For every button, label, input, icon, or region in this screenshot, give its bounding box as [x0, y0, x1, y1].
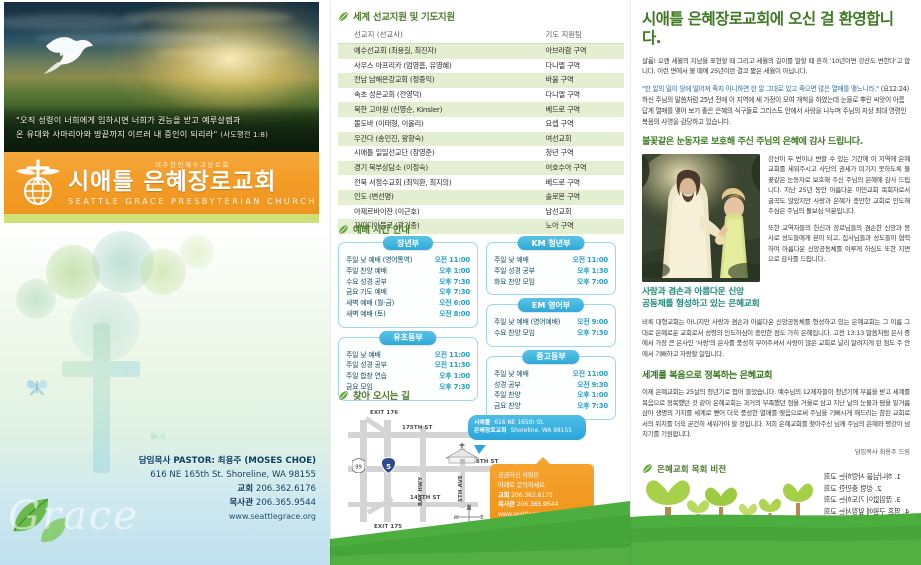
middle-panel: 세계 선교지원 및 기도지원 선교지 (선교사) 기도 지원팀 예수선교회 (최… [330, 0, 630, 565]
mission-support-section: 세계 선교지원 및 기도지원 선교지 (선교사) 기도 지원팀 예수선교회 (최… [338, 9, 624, 234]
body-paragraph-2: 비록 대형교회는 아니지만 사랑과 겸손과 아름다운 신앙공동체를 형성하고 있… [642, 317, 910, 359]
worship-service-label: 주일 성경 공부 [494, 266, 535, 277]
mission-field-cell: 사우스 아프리카 (엄영흠, 유영혜) [338, 59, 536, 74]
highway-shield-99-icon: 99 [352, 458, 365, 473]
worship-service-time: 오전 11:00 [568, 255, 608, 266]
mission-field-cell: 경기 북부상담소 (이정숙) [338, 161, 536, 176]
pastor-name: 최용주 (MOSES CHOE) [218, 456, 316, 466]
worship-service-time: 오후 1:00 [434, 371, 470, 382]
mission-table-row: 속초 성은교회 (전영덕)다니엘 구역 [338, 88, 624, 103]
worship-box-title: 장년부 [383, 236, 433, 250]
worship-service-label: 수요 성경 공부 [346, 277, 387, 288]
fold-line-right [630, 0, 631, 565]
worship-heading: 예배 시간 안내 [353, 222, 410, 236]
church-address-callout: 시애틀 616 NE 165th St. 은혜장로교회 Shoreline, W… [468, 415, 586, 440]
mission-table-row: 사우스 아프리카 (엄영흠, 유영혜)다니엘 구역 [338, 59, 624, 74]
worship-service-label: 금요 기도 예배 [346, 287, 387, 298]
teal-heading-line-2: 공동체를 형성하고 있는 은혜교회 [642, 298, 910, 311]
left-lower-decorative-area: Grace 담임목사 PASTOR: 최용주 (MOSES CHOE) 616 … [0, 223, 330, 565]
body-paragraph-3: 이제 은혜교회는 25살의 청년기로 접어 들었습니다. 예수님의 12제자들이… [642, 387, 910, 440]
worship-service-label: 주일 찬양 예배 [346, 266, 387, 277]
callout-line-2: 은혜장로교회 Shoreline, WA 98155 [474, 427, 580, 435]
mission-team-cell: 여선교회 [536, 132, 625, 147]
road-horizontal-148 [348, 466, 496, 472]
address-row: 616 NE 165th St. Shoreline, WA 98155 [76, 469, 316, 483]
scripture-quote-block: "한 알의 밀이 땅에 떨어져 죽지 아니하면 한 알 그대로 있고 죽으면 많… [642, 84, 910, 128]
leaf-bullet-icon [338, 390, 349, 401]
vision-illustration-zone: 1. 하나님을 사랑하는 교회 2. 성령 충만한 교회 3. 끊임없이 기도하… [630, 457, 921, 565]
worship-row: 주일 낮 예배 (영어통역)오전 11:00 [346, 255, 470, 266]
info-line-1: 궁금하신 사항은 [498, 471, 586, 481]
worship-service-label: 주일 낮 예배 (영어통역) [346, 255, 412, 266]
parsonage-phone-value: 206.365.9544 [256, 498, 316, 508]
worship-box: 장년부주일 낮 예배 (영어통역)오전 11:00주일 찬양 예배오후 1:00… [338, 242, 478, 328]
mission-table-row: 전남 남해은강교회 (정중익)바울 구역 [338, 73, 624, 88]
callout-tail [474, 445, 486, 454]
worship-row: 주일 합창 연습오후 1:00 [346, 371, 470, 382]
worship-service-time: 오후 7:30 [434, 277, 470, 288]
worship-service-label: 수요 찬양 모임 [494, 328, 535, 339]
pastor-label: 담임목사 PASTOR: [139, 456, 215, 466]
worship-box-title: 유초등부 [379, 331, 436, 345]
mission-field-cell: 인도 (변선명) [338, 190, 536, 205]
mission-table-row: 몰도바 (이태형, 이올리)요셉 구역 [338, 117, 624, 132]
worship-row: 주일 낮 예배오전 11:00 [494, 369, 608, 380]
worship-row: 주일 성경 공부오전 11:30 [346, 360, 470, 371]
info-line-2: 아래로 문의하세요. [498, 481, 586, 491]
worship-section-header: 예배 시간 안내 [338, 222, 624, 236]
worship-service-label: 화요 찬양 모임 [494, 277, 535, 288]
thanks-line: 불꽃같은 눈동자로 보호해 주신 주님의 은혜에 감사 드립니다. [642, 134, 910, 147]
worship-box-title: KM 청년부 [517, 236, 584, 250]
brochure-page: "오직 성령이 너희에게 임하시면 너희가 권능을 받고 예루살렘과 온 유대와… [0, 0, 921, 565]
worship-service-time: 오후 7:00 [572, 277, 608, 288]
worship-row: 수요 찬양 모임오후 7:30 [494, 328, 608, 339]
church-phone-value: 206.362.6176 [256, 484, 316, 494]
scripture-quote-text: "한 알의 밀이 땅에 떨어져 죽지 아니하면 한 알 그대로 있고 죽으면 많… [642, 85, 879, 93]
worship-box-title: EM 영어부 [518, 298, 584, 312]
parsonage-phone-label: 목사관 [229, 498, 253, 508]
left-panel: "오직 성령이 너희에게 임하시면 너희가 권능을 받고 예루살렘과 온 유대와… [0, 0, 330, 565]
mission-table-row: 시애틀 일일선교단 (장영준)청년 구역 [338, 146, 624, 161]
jesus-with-child-image [642, 154, 760, 282]
verse-line-1: "오직 성령이 너희에게 임하시면 너희가 권능을 받고 예루살렘과 [16, 113, 309, 127]
right-panel: 시애틀 은혜장로교회에 오신 걸 환영합니다. 샬롬! 오랜 세월의 지남을 표… [630, 0, 921, 565]
intro-paragraph: 샬롬! 오랜 세월의 지남을 표현할 때 그리고 세월의 길이를 말할 때 흔히… [642, 56, 910, 77]
mission-field-cell: 우간다 (송민진, 왕향숙) [338, 132, 536, 147]
jesus-image-row: 강산이 두 번이나 변할 수 있는 기간에 이 지역에 은혜 교회를 세워주시고… [642, 154, 910, 282]
teal-heading-line-1: 사랑과 겸손과 아름다운 신앙 [642, 286, 910, 299]
church-globe-cross-emblem-icon [12, 157, 64, 209]
worship-box: EM 영어부주일 낮 예배 (영어예배)오전 9:00수요 찬양 모임오후 7:… [486, 304, 616, 347]
mission-table-row: 예수선교회 (최용길, 최진자)아브라함 구역 [338, 44, 624, 59]
callout-line-1: 시애틀 616 NE 165th St. [474, 419, 580, 427]
welcome-heading: 시애틀 은혜장로교회에 오신 걸 환영합니다. [642, 10, 910, 49]
worship-service-label: 새벽 예배 (토) [346, 309, 386, 320]
worship-service-label: 새벽 예배 (월-금) [346, 298, 394, 309]
map-label-175th: 175TH ST [402, 425, 432, 431]
mission-team-cell: 솔로몬 구역 [536, 190, 625, 205]
mission-team-cell: 베드로 구역 [536, 102, 625, 117]
right-panel-content: 시애틀 은혜장로교회에 오신 걸 환영합니다. 샬롬! 오랜 세월의 지남을 표… [642, 10, 910, 475]
fold-line-left [330, 0, 331, 565]
teal-heading: 사랑과 겸손과 아름다운 신앙 공동체를 형성하고 있는 은혜교회 [642, 286, 910, 312]
worship-service-label: 주일 성경 공부 [346, 360, 387, 371]
mission-field-cell: 몰도바 (이태형, 이올리) [338, 117, 536, 132]
map-label-exit-176: EXIT 176 [370, 410, 398, 416]
grass-illustration-middle [330, 495, 630, 565]
worship-service-time: 오전 11:00 [568, 369, 608, 380]
mission-table-row: 우간다 (송민진, 왕향숙)여선교회 [338, 132, 624, 147]
parsonage-phone-row: 목사관 206.365.9544 [76, 497, 316, 511]
worship-row: 주일 찬양 예배오후 1:00 [346, 266, 470, 277]
callout-address-1: 616 NE 165th St. [494, 419, 544, 427]
directions-section-header: 찾아 오시는 길 [338, 388, 624, 402]
worship-row: 수요 성경 공부오후 7:30 [346, 277, 470, 288]
leaf-small-icon [36, 515, 70, 545]
worship-row: 주일 낮 예배오전 11:00 [494, 255, 608, 266]
svg-text:99: 99 [355, 465, 362, 471]
vision-item: 1. 하나님을 사랑하는 교회 [824, 471, 909, 483]
mission-team-cell: 바울 구역 [536, 73, 625, 88]
leaf-bullet-icon [338, 224, 349, 235]
directions-heading: 찾아 오시는 길 [353, 388, 410, 402]
mission-field-cell: 속초 성은교회 (전영덕) [338, 88, 536, 103]
mission-table-row: 인도 (변선명)솔로몬 구역 [338, 190, 624, 205]
mission-team-cell: 다니엘 구역 [536, 88, 625, 103]
worship-service-time: 오전 11:00 [430, 350, 470, 361]
worship-row: 주일 성경 공부오후 1:30 [494, 266, 608, 277]
mission-field-cell: 시애틀 일일선교단 (장영준) [338, 146, 536, 161]
mission-table-row: 북한 고아원 (신영순, Kinsler)베드로 구역 [338, 102, 624, 117]
worship-row: 새벽 예배 (월-금)오전 6:00 [346, 298, 470, 309]
mission-field-cell: 아제르바이잔 (이근호) [338, 205, 536, 220]
grass-illustration-right [630, 503, 921, 565]
worship-box-title: 중고등부 [522, 350, 579, 364]
worship-row: 금요 기도 예배오후 7:30 [346, 287, 470, 298]
worship-box: KM 청년부주일 낮 예배오전 11:00주일 성경 공부오후 1:30화요 찬… [486, 242, 616, 295]
banner-underline [4, 214, 319, 223]
church-phone-row: 교회 206.362.6176 [76, 483, 316, 497]
left-contact-block: 담임목사 PASTOR: 최용주 (MOSES CHOE) 616 NE 165… [76, 455, 316, 524]
worship-service-label: 주일 합창 연습 [346, 371, 387, 382]
mission-table: 선교지 (선교사) 기도 지원팀 예수선교회 (최용길, 최진자)아브라함 구역… [338, 27, 624, 234]
mission-team-cell: 어호수아 구역 [536, 161, 625, 176]
mission-heading: 세계 선교지원 및 기도지원 [353, 9, 455, 23]
paragraph-beside-image-1: 강산이 두 번이나 변할 수 있는 기간에 이 지역에 은혜 교회를 세워주시고… [768, 154, 910, 217]
worship-service-time: 오전 11:00 [430, 255, 470, 266]
worship-service-label: 주일 낮 예배 [494, 255, 529, 266]
mission-table-row: 전북 서정수교회 (최익환, 최지의)베드로 구역 [338, 175, 624, 190]
verse-line-2: 온 유대와 사마리아와 땅끝까지 이르러 내 증인이 되리라" (사도행전 1:… [16, 127, 309, 142]
worship-service-time: 오후 1:30 [572, 266, 608, 277]
mission-team-cell: 요셉 구역 [536, 117, 625, 132]
mission-field-cell: 전북 서정수교회 (최익환, 최지의) [338, 175, 536, 190]
church-name-english: SEATTLE GRACE PRESBYTERIAN CHURCH [68, 197, 317, 206]
website-row[interactable]: www.seattlegrace.org [76, 511, 316, 524]
paragraph-beside-image-2: 또한 교역자들의 헌신과 장로님들의 겸손한 신앙과 봉사로 성도들에게 본이 … [768, 223, 910, 265]
mission-team-cell: 베드로 구역 [536, 175, 625, 190]
worship-service-time: 오전 11:30 [430, 360, 470, 371]
jesus-side-text: 강산이 두 번이나 변할 수 있는 기간에 이 지역에 은혜 교회를 세워주시고… [768, 154, 910, 282]
mission-team-cell: 다니엘 구역 [536, 59, 625, 74]
green-heading: 세계를 복음으로 정복하는 은혜교회 [642, 367, 910, 381]
church-name-korean: 시애틀 은혜장로교회 [68, 170, 317, 194]
mission-table-header-row: 선교지 (선교사) 기도 지원팀 [338, 27, 624, 44]
mission-field-cell: 예수선교회 (최용길, 최진자) [338, 44, 536, 59]
worship-row: 새벽 예배 (토)오전 8:00 [346, 309, 470, 320]
svg-text:5: 5 [386, 463, 391, 471]
butterfly-small-icon [148, 429, 168, 446]
highway-shield-i5-icon: 5 [381, 457, 396, 474]
mission-table-row: 경기 북부상담소 (이정숙)어호수아 구역 [338, 161, 624, 176]
church-logo-banner: 미주한인예수교장로회 시애틀 은혜장로교회 SEATTLE GRACE PRES… [4, 152, 319, 214]
mission-col-team: 기도 지원팀 [536, 27, 625, 44]
leaf-bullet-icon [338, 11, 349, 22]
worship-service-time: 오전 9:00 [572, 317, 608, 328]
worship-service-time: 오후 7:30 [434, 287, 470, 298]
mission-field-cell: 전남 남해은강교회 (정중익) [338, 73, 536, 88]
cross-decoration [62, 323, 140, 473]
mission-field-cell: 북한 고아원 (신영순, Kinsler) [338, 102, 536, 117]
pastor-row: 담임목사 PASTOR: 최용주 (MOSES CHOE) [76, 455, 316, 469]
pastor-signature: 담임목사 최용주 드림 [642, 447, 910, 456]
worship-service-time: 오후 7:30 [572, 328, 608, 339]
butterfly-icon [24, 375, 50, 397]
callout-church-ko-2: 은혜장로교회 [474, 427, 507, 435]
mission-team-cell: 아브라함 구역 [536, 44, 625, 59]
worship-service-time: 오후 1:00 [434, 266, 470, 277]
sunset-landscape-photo: "오직 성령이 너희에게 임하시면 너희가 권능을 받고 예루살렘과 온 유대와… [4, 2, 319, 152]
worship-service-time: 오전 8:00 [434, 309, 470, 320]
callout-address-2: Shoreline, WA 98155 [511, 427, 573, 435]
worship-service-label: 주일 낮 예배 [494, 369, 529, 380]
worship-service-time: 오전 6:00 [434, 298, 470, 309]
denomination-label: 미주한인예수교장로회 [68, 160, 317, 169]
bible-verse-band: "오직 성령이 너희에게 임하시면 너희가 권능을 받고 예루살렘과 온 유대와… [4, 105, 319, 152]
worship-service-label: 주일 낮 예배 [346, 350, 381, 361]
mission-col-field: 선교지 (선교사) [338, 27, 536, 44]
worship-row: 화요 찬양 모임오후 7:00 [494, 277, 608, 288]
verse-reference: (사도행전 1:8) [220, 130, 268, 139]
mission-team-cell: 청년 구역 [536, 146, 625, 161]
mission-table-row: 아제르바이잔 (이근호)남선교회 [338, 205, 624, 220]
vision-item: 2. 성령 충만한 교회 [824, 483, 909, 495]
road-horizontal-175 [348, 432, 478, 438]
dove-icon [42, 30, 96, 74]
worship-row: 주일 낮 예배오전 11:00 [346, 350, 470, 361]
callout-church-ko-1: 시애틀 [474, 419, 490, 427]
mission-section-header: 세계 선교지원 및 기도지원 [338, 9, 624, 23]
worship-row: 주일 낮 예배 (영어예배)오전 9:00 [494, 317, 608, 328]
mission-team-cell: 남선교회 [536, 205, 625, 220]
worship-service-label: 주일 낮 예배 (영어예배) [494, 317, 560, 328]
church-phone-label: 교회 [237, 484, 253, 494]
